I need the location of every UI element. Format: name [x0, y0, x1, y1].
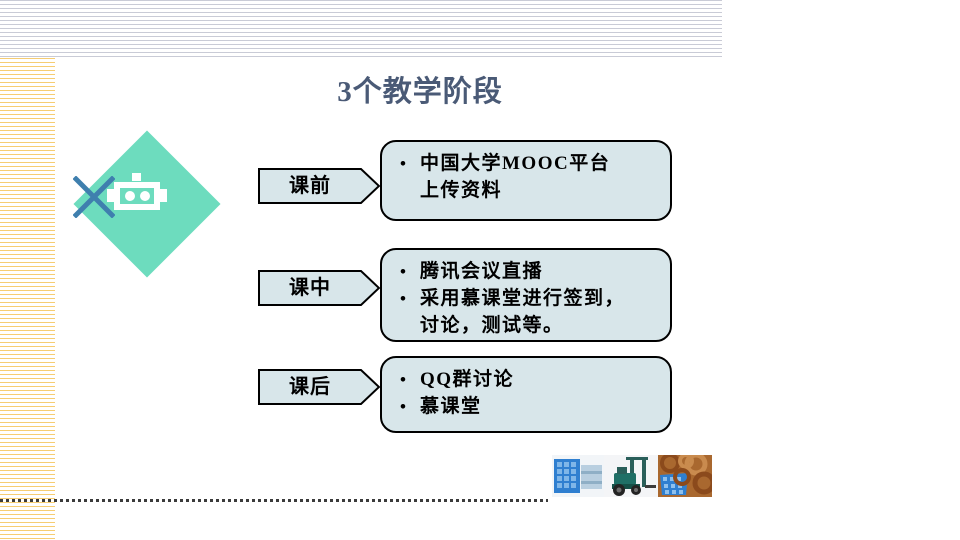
- slide-canvas: 3个教学阶段 课前 中国大学MOOC平台 上传资料: [0, 0, 960, 540]
- stage-tag-label-2: 课中: [258, 270, 362, 306]
- page-title: 3个教学阶段: [180, 68, 660, 110]
- stage-content-box-1: 中国大学MOOC平台 上传资料: [380, 140, 672, 221]
- thumbnail-strip: [552, 455, 712, 497]
- stage-bullet-text-2-2a: 采用慕课堂进行签到，: [420, 288, 625, 309]
- stage-content-box-2: 腾讯会议直播 采用慕课堂进行签到， 讨论，测试等。: [380, 248, 672, 342]
- bottom-dotted-rule: [0, 499, 548, 502]
- stage-bullet-1-1: 中国大学MOOC平台 上传资料: [398, 150, 660, 204]
- stage-bullet-text-1-1a: 中国大学MOOC平台: [420, 153, 610, 174]
- thumbnail-pretzels-in-blue-basket: [658, 455, 712, 497]
- stage-bullet-2-1: 腾讯会议直播: [398, 258, 660, 285]
- stage-bullet-text-2-2b: 讨论，测试等。: [420, 315, 564, 336]
- robot-icon: [107, 173, 167, 215]
- diamond-graphic: [73, 128, 221, 280]
- top-stripe-band: [0, 0, 722, 58]
- thumbnail-forklift: [604, 455, 658, 497]
- stage-bullet-3-1: QQ群讨论: [398, 366, 660, 393]
- thumbnail-blue-plastic-crates: [552, 455, 604, 497]
- stage-bullet-2-2: 采用慕课堂进行签到， 讨论，测试等。: [398, 285, 660, 339]
- stage-content-box-3: QQ群讨论 慕课堂: [380, 356, 672, 433]
- stage-tag-label-1: 课前: [258, 168, 362, 204]
- stage-bullet-text-1-1b: 上传资料: [420, 180, 502, 201]
- stage-bullet-3-2: 慕课堂: [398, 393, 660, 420]
- left-stripe-band: [0, 58, 55, 540]
- stage-tag-label-3: 课后: [258, 369, 362, 405]
